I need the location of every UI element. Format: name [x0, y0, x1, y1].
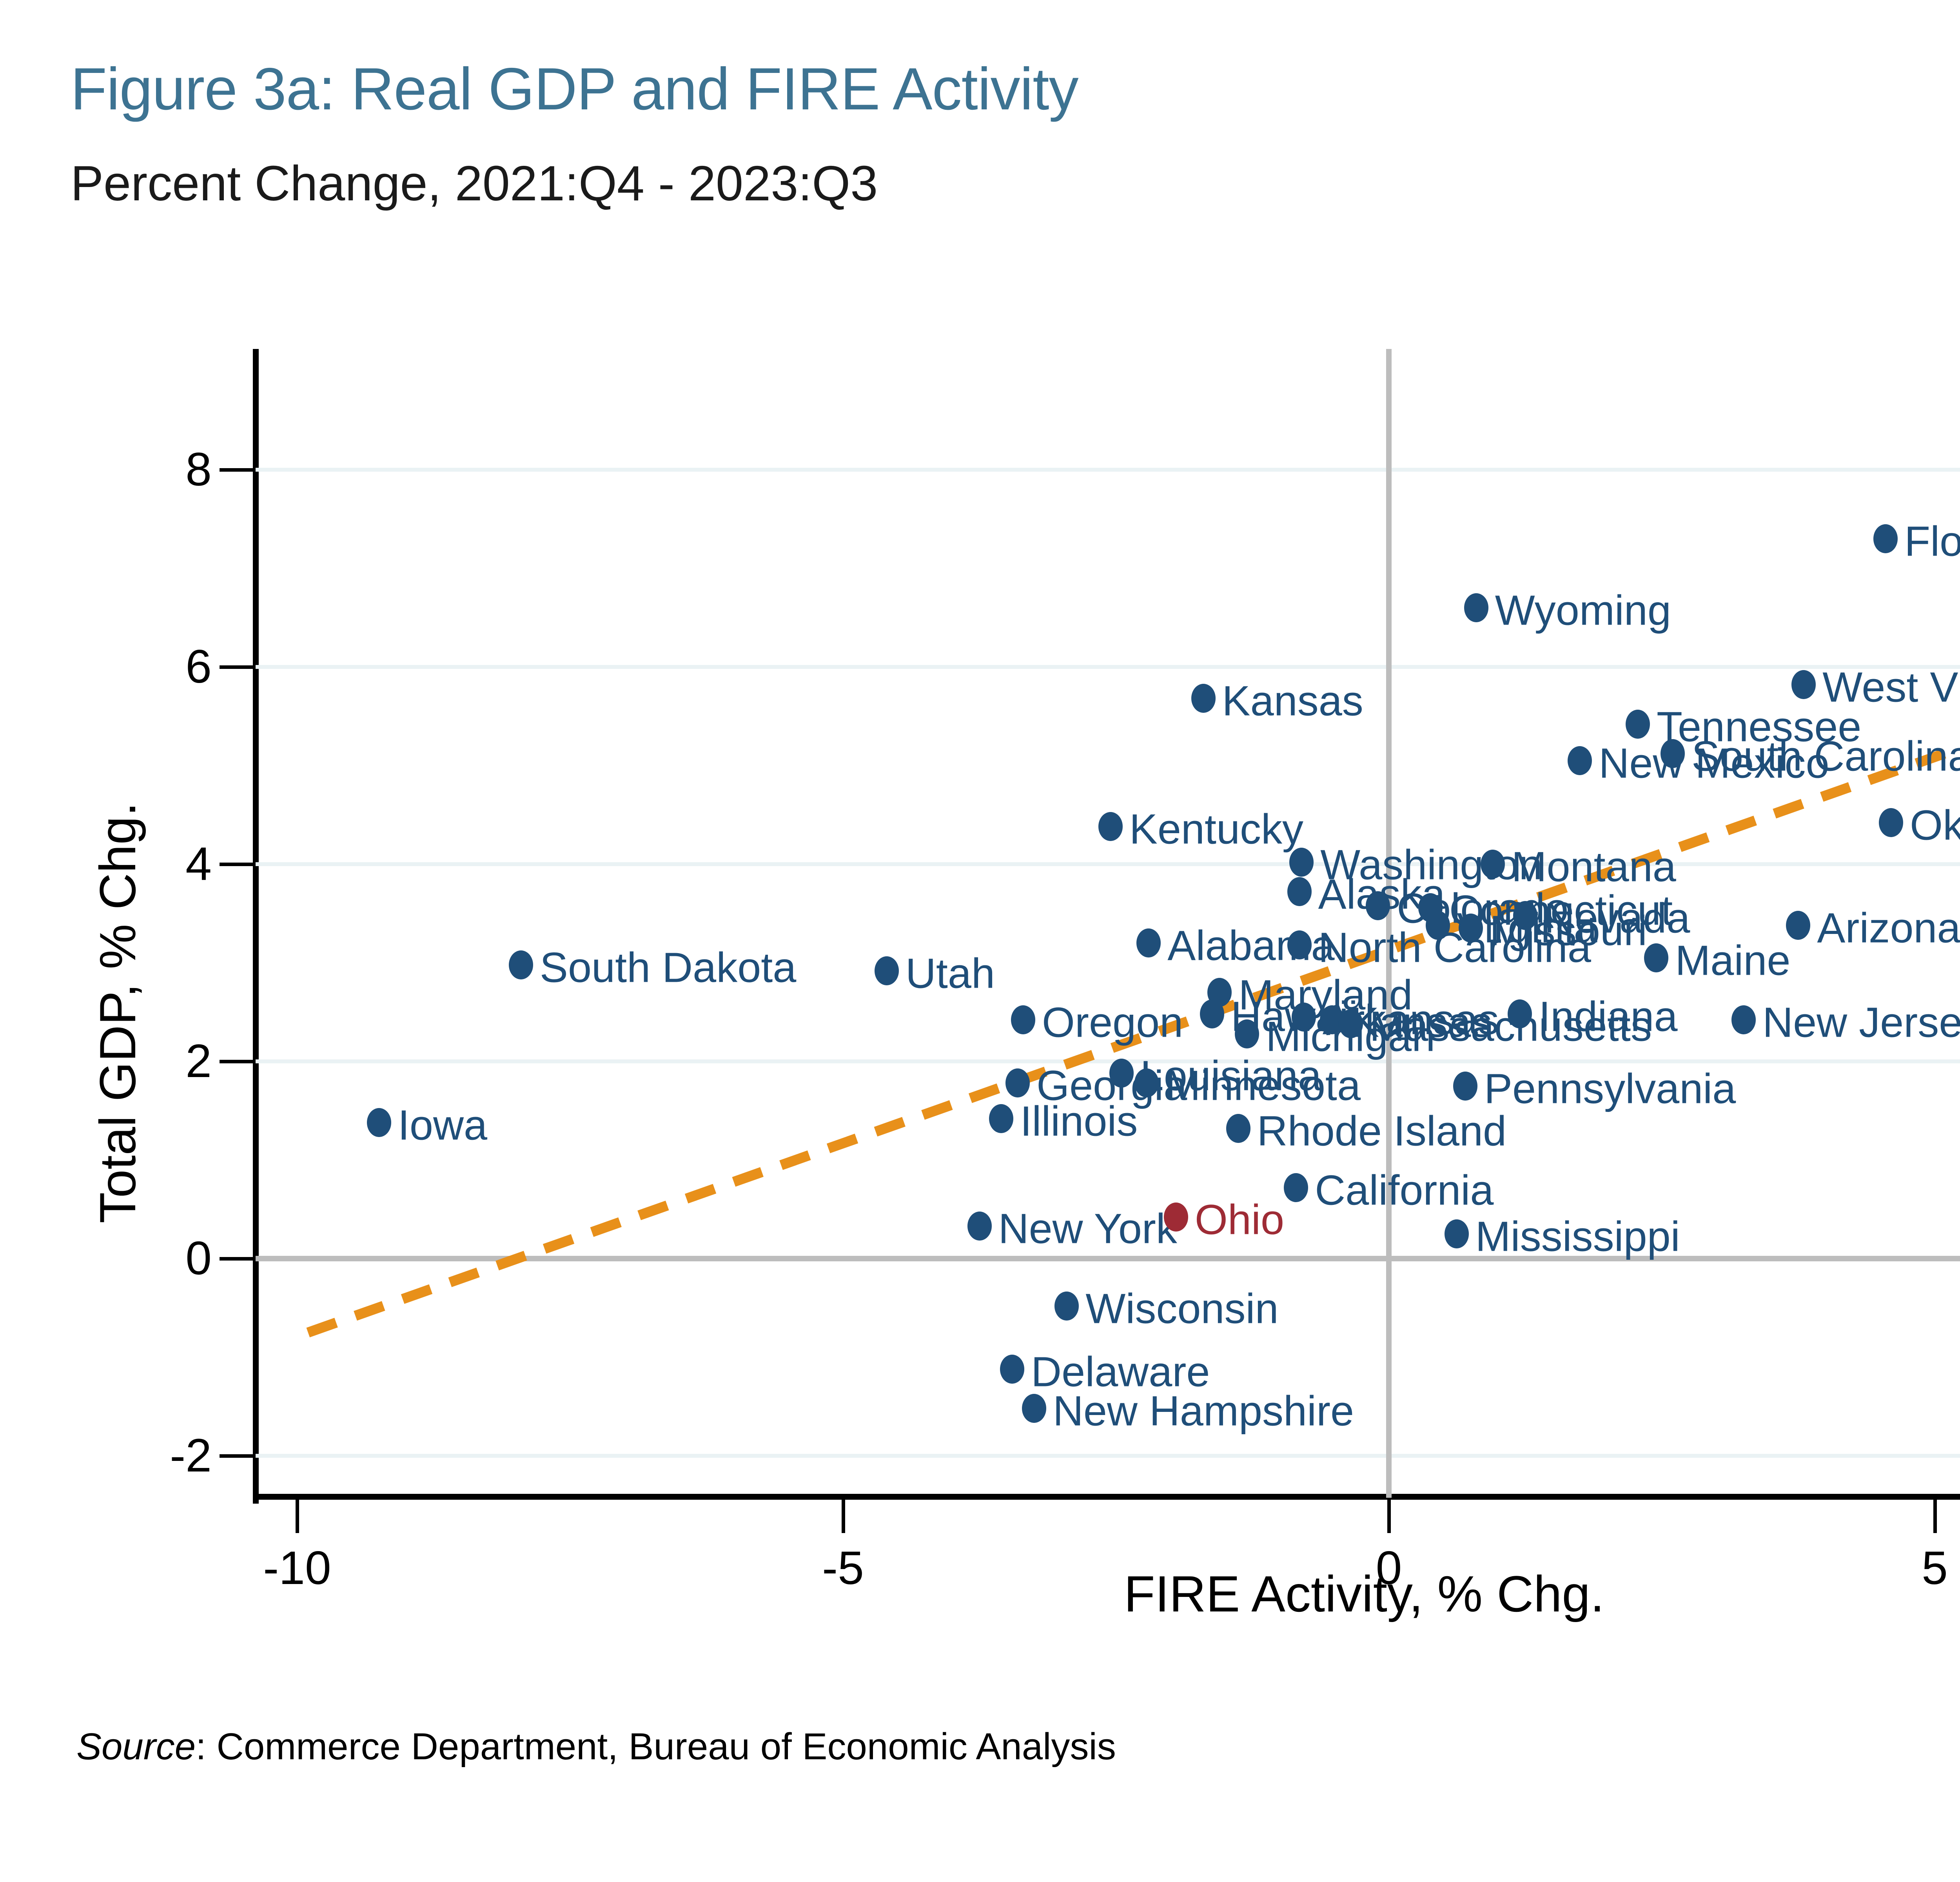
data-point[interactable] [509, 950, 533, 979]
y-tick-8 [220, 468, 253, 472]
data-point[interactable] [1054, 1292, 1079, 1321]
data-point[interactable] [1191, 684, 1216, 713]
data-point[interactable] [1136, 928, 1161, 957]
x-tick-label--5: -5 [822, 1541, 864, 1595]
gridline-y-8 [256, 468, 1960, 472]
x-tick-label-0: 0 [1376, 1541, 1402, 1595]
data-point[interactable] [1022, 1394, 1046, 1423]
data-point[interactable] [1226, 1114, 1250, 1143]
data-point[interactable] [1000, 1355, 1024, 1384]
data-point-label: Maine [1675, 936, 1790, 985]
data-point[interactable] [1464, 593, 1488, 622]
data-point[interactable] [1453, 1072, 1477, 1101]
data-point[interactable] [1200, 999, 1224, 1028]
data-point[interactable] [1481, 850, 1505, 879]
data-point[interactable] [367, 1108, 391, 1137]
data-point-label: Utah [906, 948, 995, 997]
data-point[interactable] [1644, 943, 1668, 972]
data-point-label: Ohio [1195, 1195, 1284, 1244]
y-tick-6 [220, 665, 253, 669]
x-tick--5 [842, 1500, 845, 1533]
data-point-label: Oklahoma [1910, 801, 1960, 850]
data-point[interactable] [1873, 524, 1898, 553]
data-point-label: Oregon [1042, 998, 1183, 1047]
data-point-label: Florida [1904, 517, 1960, 566]
y-tick-label-8: 8 [98, 442, 212, 496]
x-tick-label--10: -10 [263, 1541, 331, 1595]
data-point[interactable] [1366, 891, 1390, 920]
data-point[interactable] [1879, 808, 1903, 837]
y-tick--2 [220, 1454, 253, 1458]
data-point[interactable] [1284, 1173, 1308, 1202]
data-point-label: New Mexico [1599, 738, 1829, 787]
data-point-label: Rhode Island [1257, 1106, 1506, 1155]
y-tick-4 [220, 863, 253, 866]
y-tick-2 [220, 1060, 253, 1063]
data-point[interactable] [1164, 1203, 1188, 1232]
x-tick--10 [296, 1500, 299, 1533]
x-tick-5 [1933, 1500, 1937, 1533]
data-point[interactable] [1445, 1219, 1469, 1248]
data-point[interactable] [989, 1104, 1013, 1133]
data-point-label: New Hampshire [1053, 1386, 1354, 1435]
data-point[interactable] [1287, 877, 1312, 906]
data-point[interactable] [1731, 1005, 1756, 1034]
data-point-label: Wyoming [1495, 586, 1671, 635]
data-point-label: Kansas [1222, 676, 1363, 725]
data-point[interactable] [1508, 999, 1532, 1028]
data-point[interactable] [1287, 930, 1312, 959]
data-point-label: Kentucky [1129, 805, 1303, 854]
y-tick-label-6: 6 [98, 639, 212, 694]
data-point-label: Mississippi [1475, 1212, 1680, 1261]
figure-subtitle: Percent Change, 2021:Q4 - 2023:Q3 [71, 155, 878, 212]
data-point-label: Pennsylvania [1484, 1064, 1736, 1113]
x-tick-label-5: 5 [1922, 1541, 1948, 1595]
data-point[interactable] [1005, 1068, 1030, 1097]
y-tick-label--2: -2 [98, 1428, 212, 1482]
data-point-label: Indiana [1539, 992, 1677, 1041]
gridline-y-0 [256, 1256, 1960, 1261]
source-text: : Commerce Department, Bureau of Economi… [196, 1726, 1116, 1768]
y-tick-0 [220, 1257, 253, 1261]
figure-canvas: Figure 3a: Real GDP and FIRE Activity Pe… [0, 0, 1960, 1882]
data-point-label: South Dakota [540, 943, 796, 992]
data-point[interactable] [967, 1212, 992, 1241]
gridline-y-6 [256, 665, 1960, 669]
data-point[interactable] [875, 956, 899, 985]
data-point-label: North Carolina [1318, 923, 1591, 972]
data-point[interactable] [1626, 710, 1650, 739]
x-axis-title: FIRE Activity, % Chg. [1124, 1564, 1604, 1623]
gridline-y-4 [256, 862, 1960, 866]
data-point-label: Illinois [1020, 1096, 1138, 1145]
y-tick-label-2: 2 [98, 1034, 212, 1088]
data-point-label: New Jersey [1762, 998, 1960, 1047]
data-point[interactable] [1098, 812, 1123, 841]
data-point[interactable] [1568, 746, 1592, 775]
y-tick-label-4: 4 [98, 837, 212, 891]
figure-title: Figure 3a: Real GDP and FIRE Activity [71, 55, 1078, 124]
data-point[interactable] [1235, 1019, 1259, 1048]
source-label: Source [76, 1726, 196, 1768]
data-point-label: Iowa [398, 1100, 487, 1149]
gridline-y--2 [256, 1454, 1960, 1458]
data-point-label: New York [998, 1204, 1177, 1253]
data-point[interactable] [1791, 670, 1816, 699]
data-point-label: Arizona [1817, 903, 1960, 952]
data-point-label: Minnesota [1165, 1061, 1361, 1110]
x-tick-0 [1387, 1500, 1391, 1533]
data-point[interactable] [1011, 1005, 1035, 1034]
data-point[interactable] [1134, 1068, 1159, 1097]
source-note: Source: Commerce Department, Bureau of E… [76, 1725, 1116, 1768]
data-point-label: Wisconsin [1085, 1284, 1278, 1333]
data-point[interactable] [1289, 848, 1314, 877]
y-tick-label-0: 0 [98, 1231, 212, 1285]
data-point-label: California [1315, 1165, 1494, 1214]
